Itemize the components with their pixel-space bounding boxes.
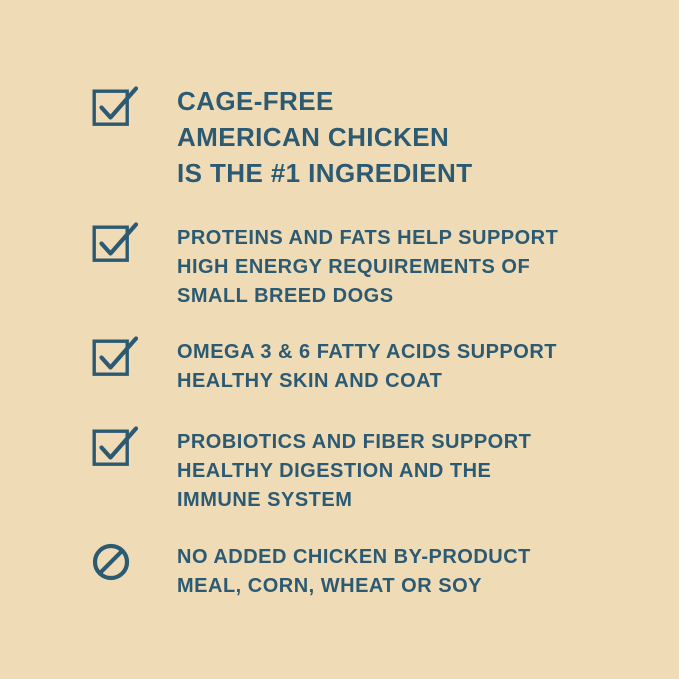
benefit-item-cage-free: CAGE-FREE AMERICAN CHICKEN IS THE #1 ING… xyxy=(92,86,652,191)
benefit-text: PROTEINS AND FATS HELP SUPPORT HIGH ENER… xyxy=(177,224,652,311)
prohibition-icon xyxy=(92,541,138,585)
checkbox-checked-icon xyxy=(92,336,138,380)
benefit-text: CAGE-FREE AMERICAN CHICKEN IS THE #1 ING… xyxy=(177,83,652,191)
checkbox-checked-icon xyxy=(92,86,138,130)
benefit-text: OMEGA 3 & 6 FATTY ACIDS SUPPORT HEALTHY … xyxy=(177,338,652,396)
benefit-text: NO ADDED CHICKEN BY-PRODUCT MEAL, CORN, … xyxy=(177,543,652,601)
product-benefits-panel: CAGE-FREE AMERICAN CHICKEN IS THE #1 ING… xyxy=(0,0,679,679)
benefit-text: PROBIOTICS AND FIBER SUPPORT HEALTHY DIG… xyxy=(177,428,652,515)
benefit-item-probiotics-fiber: PROBIOTICS AND FIBER SUPPORT HEALTHY DIG… xyxy=(92,426,652,515)
benefit-item-proteins-fats: PROTEINS AND FATS HELP SUPPORT HIGH ENER… xyxy=(92,222,652,311)
checkbox-checked-icon xyxy=(92,426,138,470)
benefit-item-omega-fatty-acids: OMEGA 3 & 6 FATTY ACIDS SUPPORT HEALTHY … xyxy=(92,336,652,396)
benefit-list: CAGE-FREE AMERICAN CHICKEN IS THE #1 ING… xyxy=(0,0,679,679)
checkbox-checked-icon xyxy=(92,222,138,266)
benefit-item-no-added-fillers: NO ADDED CHICKEN BY-PRODUCT MEAL, CORN, … xyxy=(92,541,652,601)
